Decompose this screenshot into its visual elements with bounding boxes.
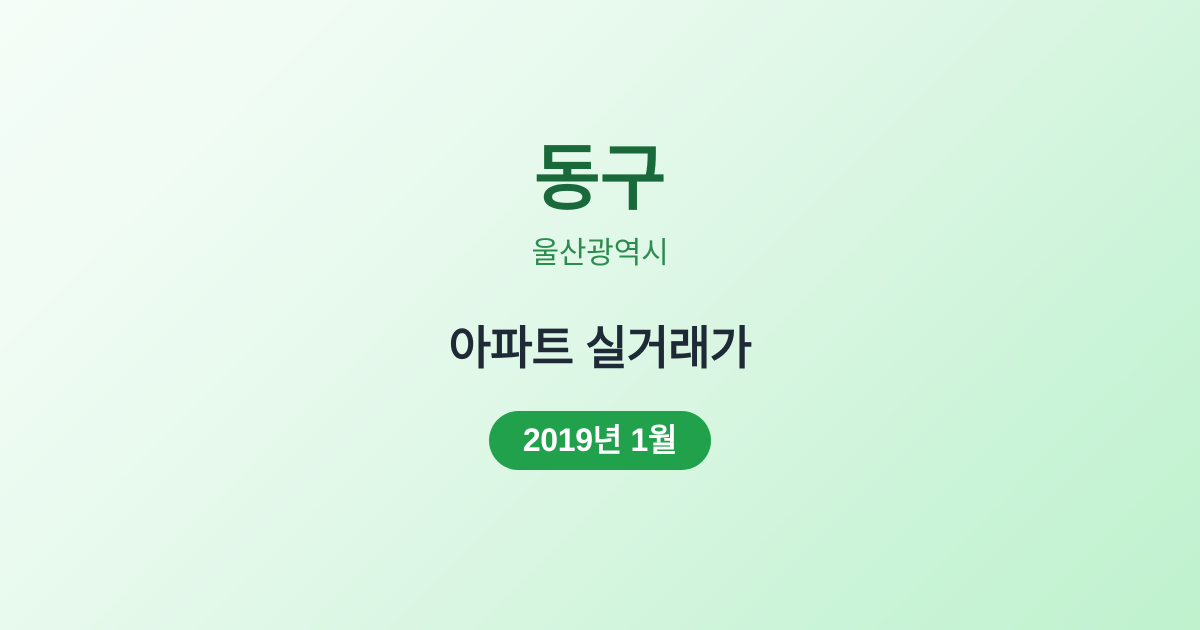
region-title: 동구: [534, 143, 665, 215]
card-content-stack: 동구 울산광역시 아파트 실거래가 2019년 1월: [0, 143, 1200, 470]
og-card: 동구 울산광역시 아파트 실거래가 2019년 1월: [0, 0, 1200, 630]
page-title: 아파트 실거래가: [449, 325, 752, 371]
region-parent-label: 울산광역시: [532, 239, 669, 269]
period-badge: 2019년 1월: [489, 411, 711, 470]
